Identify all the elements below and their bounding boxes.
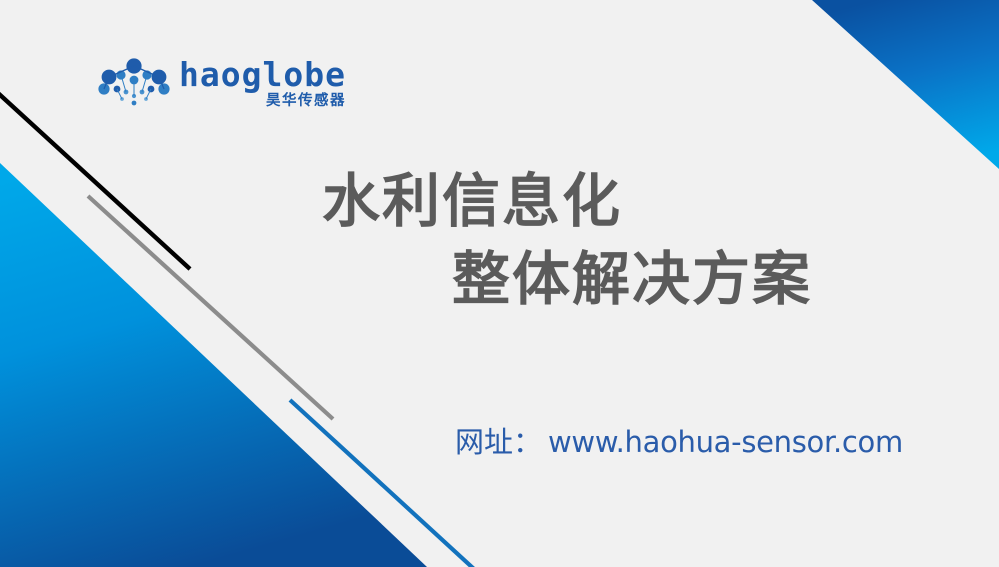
logo-wordmark: haoglobe 昊华传感器 (179, 58, 346, 109)
page-title: 水利信息化 整体解决方案 (0, 163, 999, 318)
website-url[interactable]: www.haohua-sensor.com (548, 425, 903, 459)
company-logo: haoglobe 昊华传感器 (97, 58, 346, 109)
page-title-line-2: 整体解决方案 (0, 241, 999, 319)
website-label: 网址： (455, 419, 542, 461)
haoglobe-dot-cluster-logo-icon (97, 58, 171, 108)
website-line: 网址： www.haohua-sensor.com (455, 419, 903, 461)
logo-brand-name: haoglobe (179, 58, 346, 91)
page-title-line-1: 水利信息化 (0, 163, 999, 241)
logo-brand-name-cn: 昊华传感器 (266, 94, 346, 109)
title-slide: haoglobe 昊华传感器 水利信息化 整体解决方案 网址： www.haoh… (0, 0, 999, 567)
